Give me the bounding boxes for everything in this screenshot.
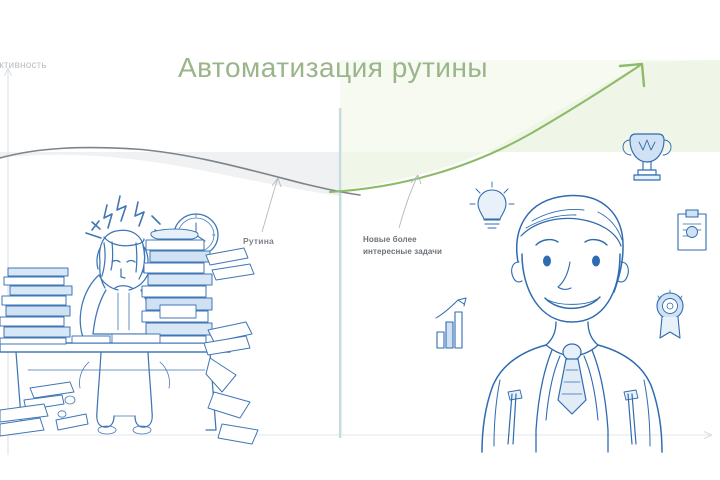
page-title: Автоматизация рутины [178,52,488,84]
annotation-new-tasks-line2: интересные задачи [363,247,442,256]
happy-businessman [482,196,662,452]
annotation-new-tasks-line1: Новые более [363,235,417,244]
trophy-icon [623,134,671,180]
annotation-routine: Рутина [243,236,274,246]
paper-stack-right [142,229,212,343]
y-axis-label: уктивность [0,60,47,71]
lightbulb-icon [470,182,514,228]
gray-routine-band [0,152,340,196]
clipboard-icon [678,210,706,250]
stressed-worker-scene [0,196,258,444]
section-divider [340,108,342,438]
person-legs-and-stool [79,352,169,434]
desk-papers [72,334,160,343]
stress-marks [86,196,166,246]
happy-businessman-scene [436,134,706,452]
illustration-canvas: уктивность Автоматизация рутины Рутина Н… [0,0,720,480]
leader-line-routine [262,178,281,232]
paper-stack-left [0,268,72,344]
annotation-new-tasks: Новые болееинтересные задачи [363,234,442,258]
award-ribbon-icon [657,290,683,338]
bar-chart-icon [436,298,466,348]
